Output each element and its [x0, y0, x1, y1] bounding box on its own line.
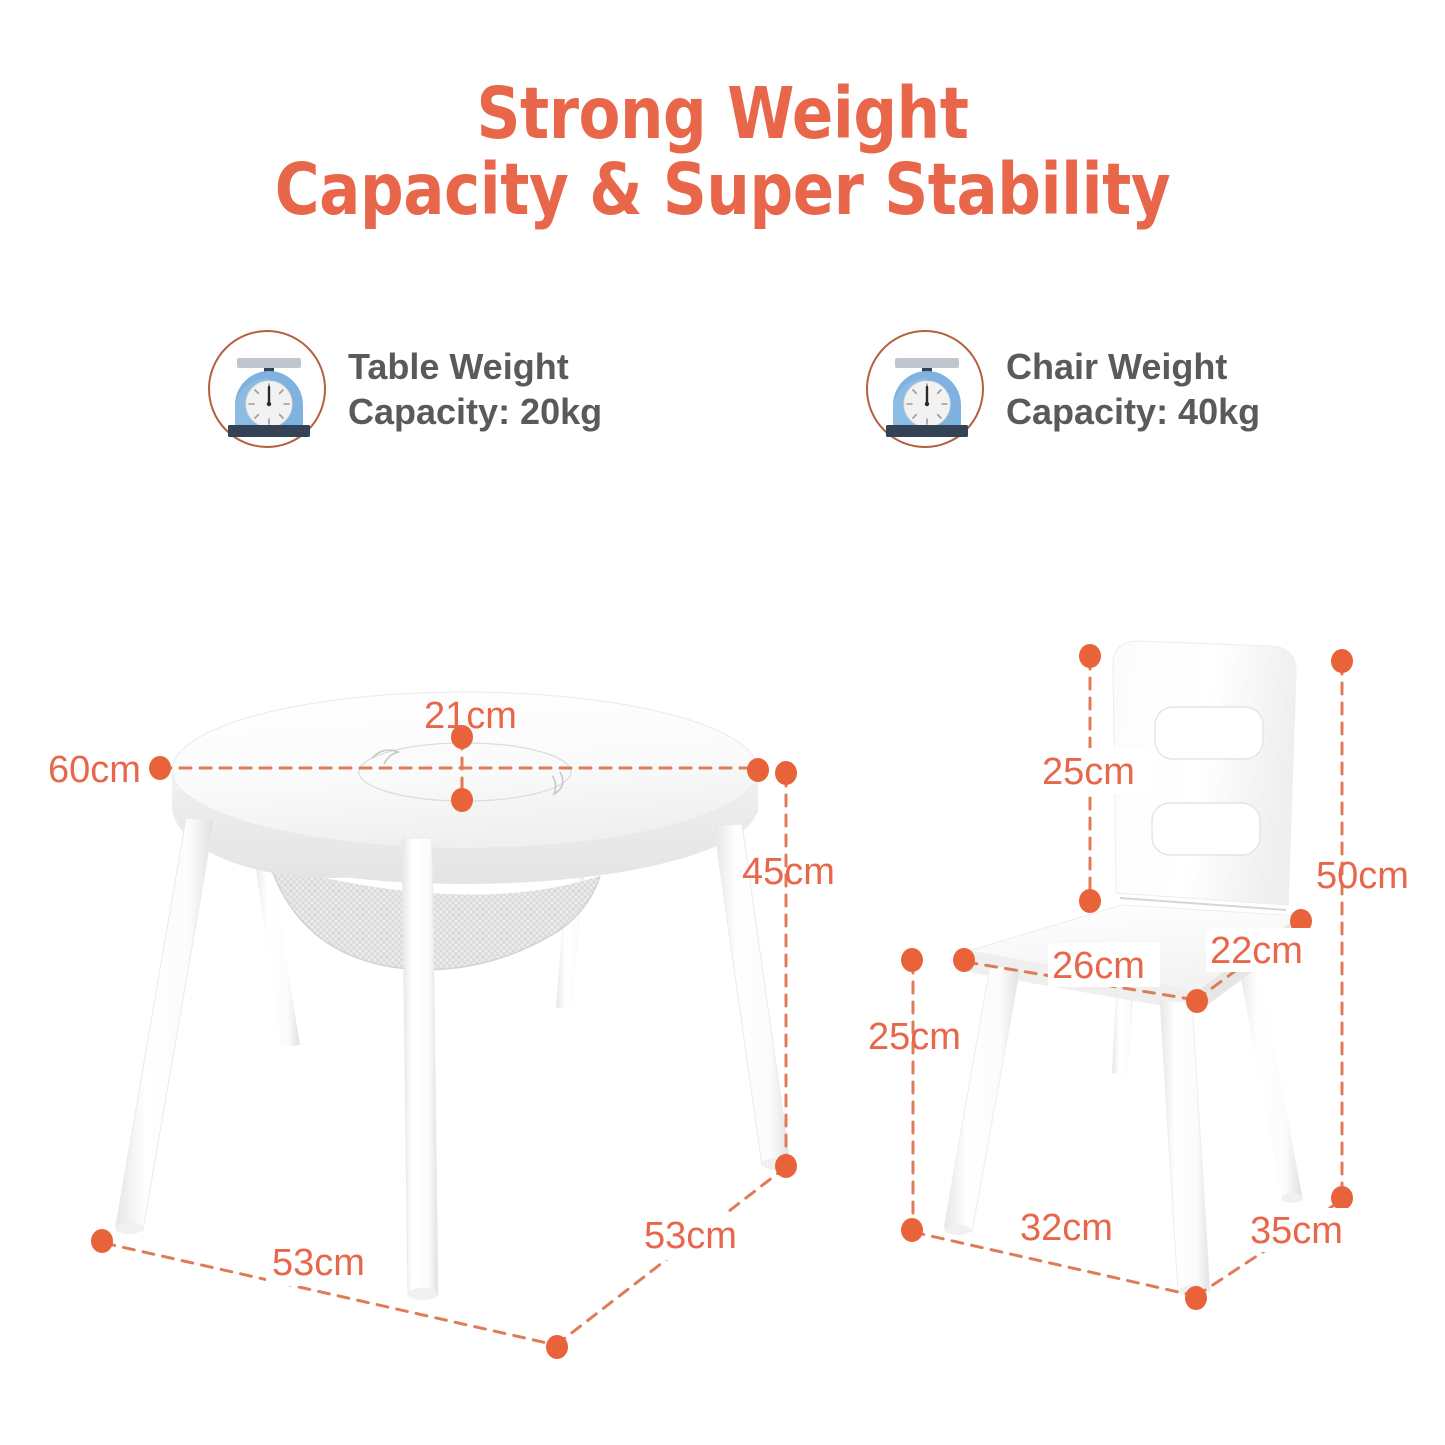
dot-chair-total-bottom — [1331, 1186, 1353, 1210]
chair-leg-front-left — [944, 966, 1020, 1235]
label-chair-seat-width: 26cm — [1052, 945, 1145, 987]
dot-chair-back-bottom — [1079, 889, 1101, 913]
label-chair-seat-depth: 22cm — [1210, 930, 1303, 972]
label-chair-backrest-height: 25cm — [1042, 751, 1135, 793]
chair-backrest-cutout-upper — [1155, 707, 1263, 759]
dot-table-lid-bottom — [451, 788, 473, 812]
dot-chair-seatheight-top — [901, 948, 923, 972]
dot-table-foot-left — [91, 1229, 113, 1253]
dot-table-right — [747, 758, 769, 782]
infographic-page: Strong Weight Capacity & Super Stability — [0, 0, 1445, 1445]
dot-chair-foot-front — [1185, 1286, 1207, 1310]
product-illustrations: 60cm 21cm 45cm 53cm 53cm 53cm 53cm — [0, 0, 1445, 1445]
label-table-footprint-right-text: 53cm — [644, 1215, 737, 1257]
chair-leg-front-center — [1160, 1000, 1210, 1297]
dot-chair-seat-left — [953, 948, 975, 972]
dot-chair-seatheight-bottom — [901, 1218, 923, 1242]
kids-round-table-illustration — [115, 692, 790, 1300]
table-dimension-labels-top: 53cm 53cm — [272, 1215, 737, 1284]
chair-backrest-cutout-lower — [1152, 803, 1260, 855]
label-chair-footprint-front: 32cm — [1020, 1207, 1113, 1249]
label-chair-seat-height: 25cm — [868, 1016, 961, 1058]
label-table-footprint-left-text: 53cm — [272, 1242, 365, 1284]
dot-table-height-top — [775, 761, 797, 785]
label-table-height: 45cm — [742, 851, 835, 893]
dot-table-height-bottom — [775, 1154, 797, 1178]
table-leg-front-center — [402, 838, 438, 1300]
label-chair-footprint-side: 35cm — [1250, 1210, 1343, 1252]
label-chair-total-height: 50cm — [1316, 855, 1409, 897]
label-table-lid: 21cm — [424, 695, 517, 737]
table-leg-front-left — [115, 818, 214, 1234]
dot-chair-back-top — [1079, 644, 1101, 668]
dot-chair-total-top — [1331, 649, 1353, 673]
dot-table-left — [149, 756, 171, 780]
chair-leg-back-right — [1238, 960, 1303, 1203]
label-table-diameter: 60cm — [48, 749, 141, 791]
dot-table-foot-front — [546, 1335, 568, 1359]
dot-chair-seat-front — [1186, 989, 1208, 1013]
